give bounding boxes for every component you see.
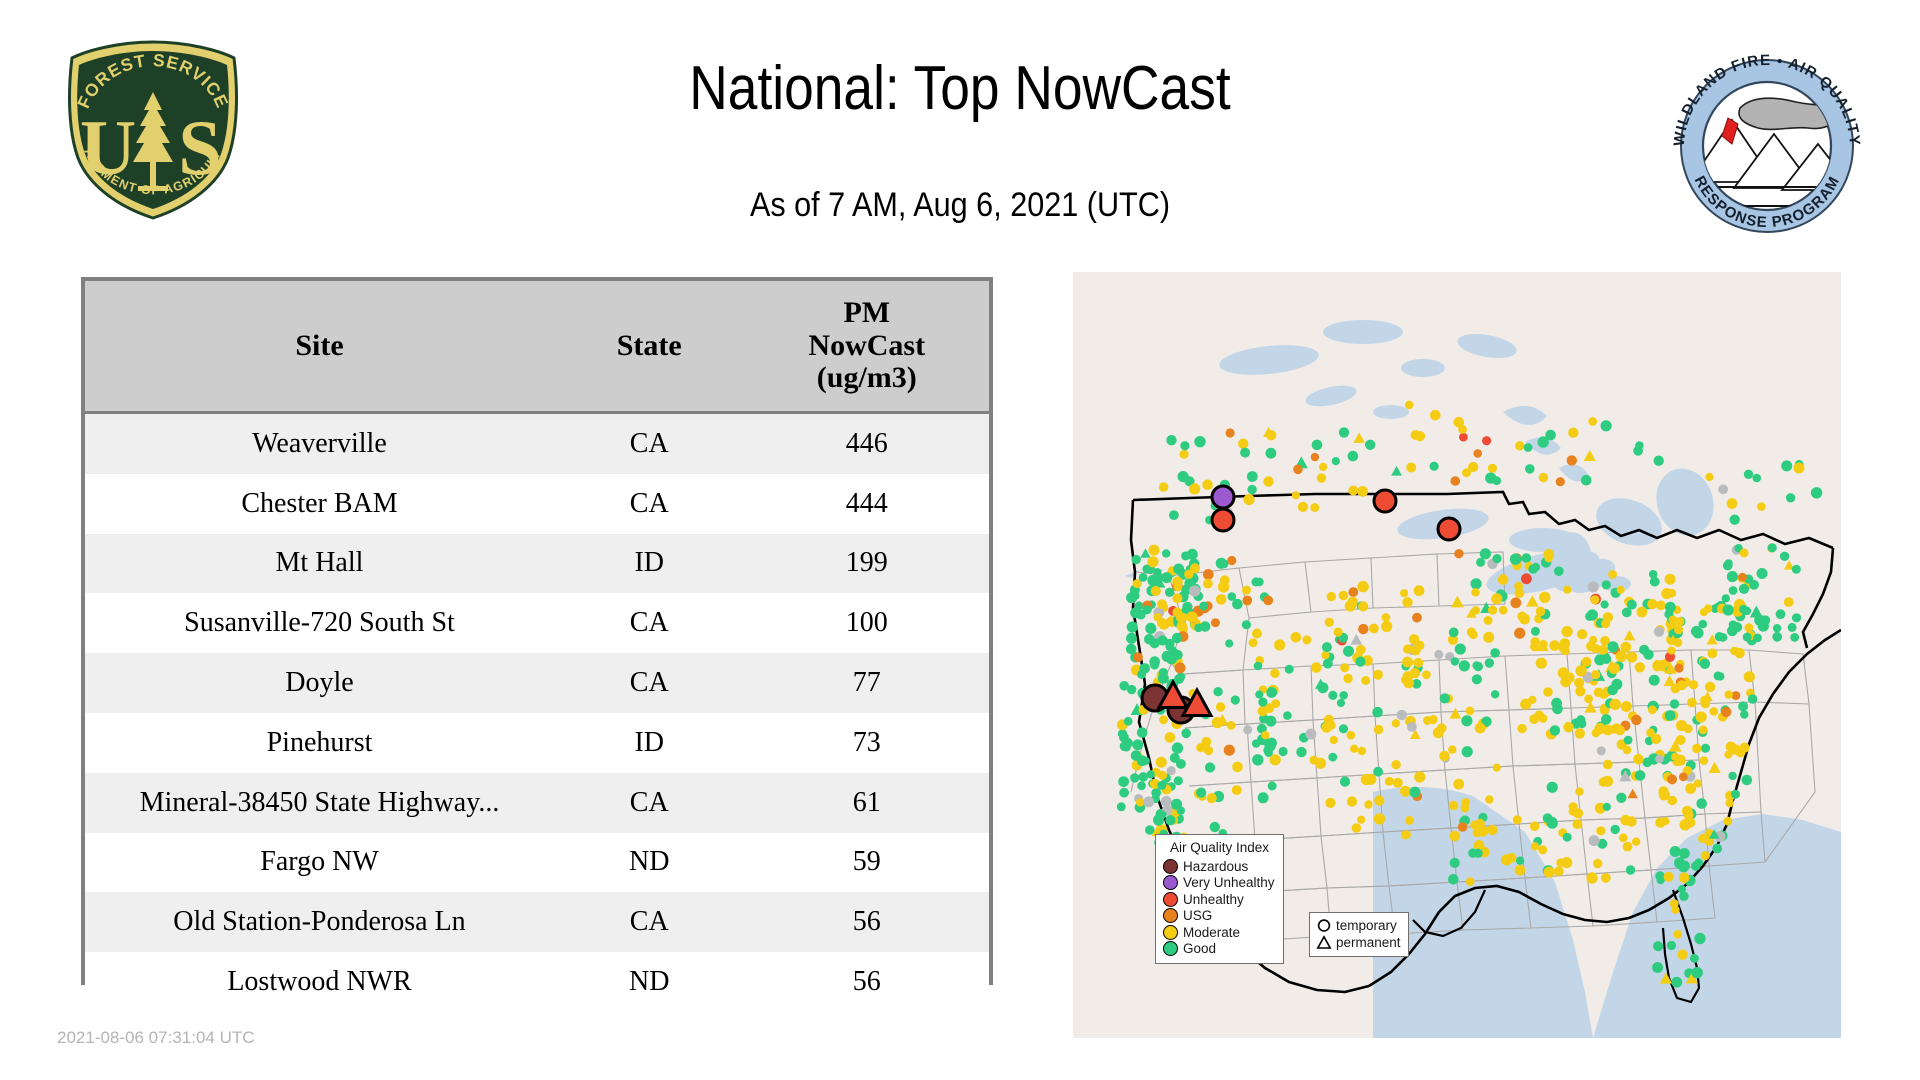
- map-monitor-dot[interactable]: [1326, 721, 1335, 730]
- map-monitor-dot[interactable]: [1694, 858, 1703, 867]
- map-monitor-dot[interactable]: [1607, 685, 1618, 696]
- map-monitor-dot[interactable]: [1153, 568, 1162, 577]
- map-monitor-dot[interactable]: [1516, 857, 1524, 865]
- map-monitor-dot[interactable]: [1652, 661, 1662, 671]
- map-monitor-dot[interactable]: [1252, 739, 1260, 747]
- map-monitor-dot[interactable]: [1513, 815, 1522, 824]
- map-monitor-dot[interactable]: [1748, 694, 1758, 704]
- map-monitor-dot[interactable]: [1661, 817, 1669, 825]
- map-monitor-dot[interactable]: [1345, 600, 1356, 611]
- map-monitor-dot[interactable]: [1676, 720, 1687, 731]
- map-monitor-dot[interactable]: [1482, 436, 1491, 445]
- map-monitor-dot[interactable]: [1675, 617, 1684, 626]
- map-monitor-dot[interactable]: [1440, 693, 1450, 703]
- map-monitor-dot[interactable]: [1596, 826, 1605, 835]
- map-monitor-dot[interactable]: [1392, 719, 1400, 727]
- map-monitor-dot[interactable]: [1731, 790, 1740, 799]
- map-monitor-dot[interactable]: [1213, 687, 1222, 696]
- map-monitor-dot[interactable]: [1698, 834, 1707, 843]
- map-monitor-dot[interactable]: [1268, 782, 1277, 791]
- map-monitor-dot[interactable]: [1317, 682, 1328, 693]
- map-monitor-dot[interactable]: [1639, 645, 1649, 655]
- map-monitor-dot[interactable]: [1343, 674, 1352, 683]
- map-monitor-dot[interactable]: [1350, 745, 1358, 753]
- map-highlighted-site-marker[interactable]: [1212, 509, 1234, 531]
- map-monitor-dot[interactable]: [1166, 435, 1176, 445]
- map-monitor-dot[interactable]: [1255, 690, 1263, 698]
- map-monitor-dot[interactable]: [1212, 717, 1223, 728]
- map-monitor-dot[interactable]: [1554, 866, 1564, 876]
- table-row[interactable]: Mineral-38450 State Highway...CA61: [85, 773, 989, 833]
- map-monitor-dot[interactable]: [1655, 755, 1664, 764]
- map-monitor-dot[interactable]: [1402, 657, 1413, 668]
- map-monitor-dot[interactable]: [1364, 800, 1372, 808]
- map-monitor-dot[interactable]: [1700, 659, 1710, 669]
- map-monitor-dot[interactable]: [1679, 772, 1688, 781]
- map-monitor-dot[interactable]: [1283, 711, 1292, 720]
- map-monitor-dot[interactable]: [1199, 602, 1208, 611]
- map-monitor-dot[interactable]: [1739, 584, 1749, 594]
- map-monitor-dot[interactable]: [1203, 579, 1213, 589]
- map-monitor-dot[interactable]: [1203, 569, 1214, 580]
- map-monitor-dot[interactable]: [1515, 441, 1524, 450]
- map-monitor-dot[interactable]: [1705, 682, 1715, 692]
- map-monitor-dot[interactable]: [1252, 754, 1263, 765]
- map-monitor-dot[interactable]: [1635, 662, 1645, 672]
- map-monitor-dot[interactable]: [1374, 725, 1383, 734]
- map-monitor-dot[interactable]: [1677, 949, 1687, 959]
- map-monitor-dot[interactable]: [1712, 844, 1722, 854]
- map-monitor-dot[interactable]: [1690, 954, 1699, 963]
- map-monitor-dot[interactable]: [1539, 592, 1550, 603]
- map-monitor-dot[interactable]: [1739, 605, 1748, 614]
- map-monitor-dot[interactable]: [1510, 554, 1521, 565]
- map-monitor-dot[interactable]: [1674, 625, 1683, 634]
- map-monitor-dot[interactable]: [1196, 788, 1206, 798]
- map-monitor-dot[interactable]: [1627, 600, 1637, 610]
- map-monitor-dot[interactable]: [1661, 588, 1672, 599]
- map-monitor-dot[interactable]: [1243, 725, 1252, 734]
- map-monitor-dot[interactable]: [1311, 662, 1322, 673]
- map-monitor-dot[interactable]: [1372, 707, 1383, 718]
- map-monitor-dot[interactable]: [1169, 510, 1179, 520]
- map-monitor-dot[interactable]: [1317, 473, 1326, 482]
- map-monitor-dot[interactable]: [1471, 578, 1482, 589]
- map-monitor-dot[interactable]: [1666, 575, 1674, 583]
- map-monitor-dot[interactable]: [1254, 662, 1263, 671]
- map-monitor-dot[interactable]: [1373, 670, 1383, 680]
- map-monitor-dot[interactable]: [1216, 702, 1225, 711]
- map-monitor-dot[interactable]: [1458, 822, 1468, 832]
- map-monitor-dot[interactable]: [1543, 687, 1553, 697]
- map-monitor-dot[interactable]: [1174, 776, 1183, 785]
- map-monitor-dot[interactable]: [1437, 723, 1447, 733]
- map-monitor-dot[interactable]: [1247, 471, 1258, 482]
- map-monitor-dot[interactable]: [1781, 460, 1792, 471]
- map-monitor-dot[interactable]: [1327, 592, 1336, 601]
- map-monitor-dot[interactable]: [1211, 618, 1220, 627]
- map-monitor-dot[interactable]: [1216, 594, 1227, 605]
- map-monitor-dot[interactable]: [1337, 699, 1345, 707]
- map-monitor-dot[interactable]: [1536, 658, 1547, 669]
- map-monitor-dot[interactable]: [1588, 417, 1597, 426]
- map-monitor-dot[interactable]: [1517, 724, 1526, 733]
- map-monitor-dot[interactable]: [1340, 663, 1349, 672]
- map-monitor-dot[interactable]: [1385, 777, 1394, 786]
- map-monitor-dot[interactable]: [1472, 606, 1480, 614]
- map-monitor-dot[interactable]: [1584, 695, 1593, 704]
- map-monitor-dot[interactable]: [1563, 722, 1573, 732]
- map-monitor-dot[interactable]: [1476, 558, 1485, 567]
- map-monitor-dot[interactable]: [1357, 581, 1368, 592]
- map-monitor-dot[interactable]: [1358, 601, 1368, 611]
- map-monitor-dot[interactable]: [1727, 498, 1738, 509]
- map-monitor-dot[interactable]: [1266, 687, 1277, 698]
- map-monitor-dot[interactable]: [1705, 473, 1713, 481]
- map-monitor-dot[interactable]: [1545, 554, 1553, 562]
- map-monitor-dot[interactable]: [1434, 650, 1443, 659]
- map-monitor-dot[interactable]: [1487, 825, 1497, 835]
- map-monitor-dot[interactable]: [1786, 493, 1795, 502]
- map-monitor-dot[interactable]: [1753, 634, 1762, 643]
- map-monitor-dot[interactable]: [1202, 737, 1212, 747]
- map-monitor-dot[interactable]: [1124, 717, 1133, 726]
- map-monitor-dot[interactable]: [1569, 802, 1578, 811]
- map-monitor-dot[interactable]: [1696, 798, 1707, 809]
- map-monitor-dot[interactable]: [1158, 771, 1167, 780]
- map-monitor-dot[interactable]: [1551, 698, 1562, 709]
- map-monitor-dot[interactable]: [1581, 475, 1592, 486]
- map-monitor-dot[interactable]: [1172, 593, 1182, 603]
- map-monitor-dot[interactable]: [1382, 613, 1391, 622]
- map-monitor-dot[interactable]: [1422, 670, 1431, 679]
- map-monitor-dot[interactable]: [1405, 816, 1414, 825]
- map-monitor-dot[interactable]: [1279, 747, 1288, 756]
- map-monitor-dot[interactable]: [1637, 607, 1648, 618]
- map-monitor-dot[interactable]: [1263, 476, 1273, 486]
- map-monitor-dot[interactable]: [1586, 641, 1596, 651]
- map-monitor-dot[interactable]: [1258, 792, 1269, 803]
- map-monitor-dot[interactable]: [1543, 813, 1553, 823]
- map-monitor-dot[interactable]: [1792, 565, 1801, 574]
- map-monitor-dot[interactable]: [1740, 710, 1748, 718]
- map-monitor-dot[interactable]: [1407, 722, 1417, 732]
- map-monitor-dot[interactable]: [1132, 739, 1143, 750]
- column-header-state[interactable]: State: [554, 281, 745, 413]
- map-monitor-dot[interactable]: [1617, 586, 1625, 594]
- map-monitor-dot[interactable]: [1724, 817, 1733, 826]
- map-monitor-dot[interactable]: [1466, 707, 1475, 716]
- map-monitor-dot[interactable]: [1157, 599, 1167, 609]
- map-monitor-dot[interactable]: [1210, 822, 1220, 832]
- map-monitor-dot[interactable]: [1409, 634, 1419, 644]
- map-monitor-dot[interactable]: [1136, 610, 1146, 620]
- map-monitor-dot[interactable]: [1525, 464, 1535, 474]
- map-monitor-dot[interactable]: [1726, 742, 1736, 752]
- map-monitor-dot[interactable]: [1357, 816, 1365, 824]
- map-monitor-dot[interactable]: [1270, 669, 1279, 678]
- map-monitor-dot[interactable]: [1296, 747, 1306, 757]
- map-monitor-dot[interactable]: [1266, 448, 1277, 459]
- map-monitor-dot[interactable]: [1514, 582, 1523, 591]
- map-monitor-dot[interactable]: [1575, 787, 1583, 795]
- map-monitor-dot[interactable]: [1127, 621, 1138, 632]
- map-monitor-dot[interactable]: [1352, 823, 1362, 833]
- map-monitor-dot[interactable]: [1415, 431, 1425, 441]
- map-monitor-dot[interactable]: [1400, 786, 1411, 797]
- column-header-pm-nowcast[interactable]: PM NowCast (ug/m3): [745, 281, 989, 413]
- map-monitor-dot[interactable]: [1626, 816, 1637, 827]
- map-monitor-dot[interactable]: [1361, 676, 1370, 685]
- map-monitor-dot[interactable]: [1180, 441, 1189, 450]
- map-monitor-dot[interactable]: [1473, 449, 1482, 458]
- map-monitor-dot[interactable]: [1118, 776, 1129, 787]
- map-monitor-dot[interactable]: [1724, 559, 1732, 567]
- map-monitor-dot[interactable]: [1462, 468, 1471, 477]
- map-monitor-dot[interactable]: [1381, 621, 1392, 632]
- map-monitor-dot[interactable]: [1544, 867, 1555, 878]
- map-monitor-dot[interactable]: [1610, 725, 1619, 734]
- map-monitor-dot[interactable]: [1471, 588, 1479, 596]
- map-monitor-dot[interactable]: [1348, 451, 1359, 462]
- map-monitor-dot[interactable]: [1459, 433, 1468, 442]
- map-monitor-dot[interactable]: [1466, 877, 1475, 886]
- map-monitor-dot[interactable]: [1539, 714, 1548, 723]
- map-monitor-dot[interactable]: [1598, 645, 1608, 655]
- map-monitor-dot[interactable]: [1633, 446, 1643, 456]
- map-monitor-dot[interactable]: [1414, 585, 1425, 596]
- map-monitor-dot[interactable]: [1667, 774, 1677, 784]
- map-monitor-dot[interactable]: [1653, 941, 1663, 951]
- table-row[interactable]: PinehurstID73: [85, 713, 989, 773]
- map-monitor-dot[interactable]: [1271, 699, 1280, 708]
- map-monitor-dot[interactable]: [1119, 681, 1129, 691]
- map-monitor-dot[interactable]: [1472, 674, 1482, 684]
- map-monitor-dot[interactable]: [1679, 891, 1689, 901]
- map-monitor-dot[interactable]: [1232, 599, 1243, 610]
- map-monitor-dot[interactable]: [1616, 793, 1626, 803]
- map-monitor-dot[interactable]: [1176, 612, 1186, 622]
- map-monitor-dot[interactable]: [1562, 626, 1573, 637]
- map-monitor-dot[interactable]: [1725, 690, 1733, 698]
- map-monitor-dot[interactable]: [1602, 776, 1613, 787]
- map-monitor-dot[interactable]: [1718, 484, 1728, 494]
- map-monitor-dot[interactable]: [1413, 658, 1423, 668]
- table-row[interactable]: Chester BAMCA444: [85, 474, 989, 534]
- map-monitor-dot[interactable]: [1577, 629, 1587, 639]
- map-monitor-dot[interactable]: [1132, 555, 1141, 564]
- map-monitor-dot[interactable]: [1291, 632, 1302, 643]
- map-monitor-dot[interactable]: [1175, 662, 1186, 673]
- map-monitor-dot[interactable]: [1588, 581, 1599, 592]
- map-monitor-dot[interactable]: [1668, 646, 1676, 654]
- map-monitor-dot[interactable]: [1454, 549, 1463, 558]
- map-monitor-dot[interactable]: [1673, 930, 1682, 939]
- map-monitor-dot[interactable]: [1563, 586, 1571, 594]
- map-monitor-dot[interactable]: [1768, 543, 1777, 552]
- map-monitor-dot[interactable]: [1601, 873, 1611, 883]
- map-monitor-dot[interactable]: [1410, 787, 1421, 798]
- map-monitor-dot[interactable]: [1403, 644, 1412, 653]
- map-monitor-dot[interactable]: [1449, 801, 1459, 811]
- table-row[interactable]: Mt HallID199: [85, 534, 989, 594]
- map-monitor-dot[interactable]: [1514, 628, 1525, 639]
- map-monitor-dot[interactable]: [1207, 793, 1217, 803]
- map-monitor-dot[interactable]: [1671, 753, 1679, 761]
- map-monitor-dot[interactable]: [1648, 705, 1657, 714]
- map-monitor-dot[interactable]: [1147, 556, 1158, 567]
- map-monitor-dot[interactable]: [1220, 575, 1230, 585]
- map-monitor-dot[interactable]: [1715, 632, 1724, 641]
- table-row[interactable]: Fargo NWND59: [85, 833, 989, 893]
- map-monitor-dot[interactable]: [1699, 726, 1708, 735]
- map-monitor-dot[interactable]: [1130, 773, 1139, 782]
- map-monitor-dot[interactable]: [1490, 648, 1500, 658]
- map-monitor-dot[interactable]: [1365, 440, 1375, 450]
- map-monitor-dot[interactable]: [1531, 627, 1540, 636]
- column-header-site[interactable]: Site: [85, 281, 554, 413]
- map-monitor-dot[interactable]: [1159, 715, 1168, 724]
- map-monitor-dot[interactable]: [1334, 628, 1343, 637]
- map-monitor-dot[interactable]: [1621, 701, 1632, 712]
- map-monitor-dot[interactable]: [1757, 502, 1766, 511]
- map-monitor-dot[interactable]: [1670, 699, 1679, 708]
- map-monitor-dot[interactable]: [1232, 762, 1243, 773]
- map-highlighted-site-marker[interactable]: [1438, 518, 1460, 540]
- map-monitor-dot[interactable]: [1692, 967, 1703, 978]
- map-monitor-dot[interactable]: [1632, 838, 1640, 846]
- map-monitor-dot[interactable]: [1722, 594, 1730, 602]
- map-monitor-dot[interactable]: [1575, 728, 1585, 738]
- map-monitor-dot[interactable]: [1594, 723, 1605, 734]
- map-monitor-dot[interactable]: [1714, 671, 1723, 680]
- map-monitor-dot[interactable]: [1485, 795, 1494, 804]
- map-monitor-dot[interactable]: [1788, 623, 1797, 632]
- map-monitor-dot[interactable]: [1453, 779, 1464, 790]
- map-monitor-dot[interactable]: [1507, 853, 1517, 863]
- map-monitor-dot[interactable]: [1550, 725, 1560, 735]
- map-monitor-dot[interactable]: [1480, 548, 1491, 559]
- map-monitor-dot[interactable]: [1510, 597, 1521, 608]
- map-monitor-dot[interactable]: [1472, 661, 1480, 669]
- map-monitor-dot[interactable]: [1298, 502, 1308, 512]
- map-monitor-dot[interactable]: [1683, 810, 1693, 820]
- map-monitor-dot[interactable]: [1346, 731, 1355, 740]
- map-monitor-dot[interactable]: [1727, 571, 1738, 582]
- map-monitor-dot[interactable]: [1602, 580, 1611, 589]
- map-monitor-dot[interactable]: [1696, 711, 1707, 722]
- table-row[interactable]: Lostwood NWRND56: [85, 952, 989, 1012]
- map-monitor-dot[interactable]: [1725, 799, 1734, 808]
- map-monitor-dot[interactable]: [1157, 781, 1166, 790]
- map-monitor-dot[interactable]: [1190, 563, 1200, 573]
- map-monitor-dot[interactable]: [1340, 777, 1350, 787]
- map-monitor-dot[interactable]: [1159, 482, 1169, 492]
- map-monitor-dot[interactable]: [1224, 745, 1235, 756]
- table-row[interactable]: Susanville-720 South StCA100: [85, 593, 989, 653]
- map-monitor-dot[interactable]: [1325, 618, 1334, 627]
- map-monitor-dot[interactable]: [1659, 789, 1670, 800]
- map-monitor-dot[interactable]: [1252, 629, 1262, 639]
- map-monitor-dot[interactable]: [1651, 734, 1661, 744]
- map-monitor-dot[interactable]: [1601, 654, 1611, 664]
- map-monitor-dot[interactable]: [1258, 706, 1268, 716]
- map-monitor-dot[interactable]: [1493, 764, 1501, 772]
- map-monitor-dot[interactable]: [1594, 688, 1604, 698]
- map-monitor-dot[interactable]: [1607, 641, 1618, 652]
- map-monitor-dot[interactable]: [1475, 723, 1486, 734]
- map-monitor-dot[interactable]: [1689, 680, 1698, 689]
- map-monitor-dot[interactable]: [1685, 783, 1696, 794]
- map-monitor-dot[interactable]: [1126, 633, 1137, 644]
- air-quality-map[interactable]: Air Quality Index HazardousVery Unhealth…: [1073, 272, 1841, 1038]
- table-row[interactable]: WeavervilleCA446: [85, 413, 989, 474]
- map-monitor-dot[interactable]: [1373, 767, 1383, 777]
- map-monitor-dot[interactable]: [1356, 645, 1366, 655]
- map-monitor-dot[interactable]: [1635, 770, 1646, 781]
- map-monitor-dot[interactable]: [1117, 802, 1126, 811]
- map-monitor-dot[interactable]: [1174, 583, 1182, 591]
- map-monitor-dot[interactable]: [1189, 585, 1200, 596]
- map-monitor-dot[interactable]: [1601, 619, 1610, 628]
- map-monitor-dot[interactable]: [1744, 470, 1753, 479]
- map-monitor-dot[interactable]: [1321, 651, 1329, 659]
- map-monitor-dot[interactable]: [1238, 439, 1248, 449]
- map-monitor-dot[interactable]: [1744, 671, 1755, 682]
- map-monitor-dot[interactable]: [1186, 611, 1197, 622]
- map-monitor-dot[interactable]: [1263, 596, 1273, 606]
- map-monitor-dot[interactable]: [1243, 596, 1253, 606]
- map-monitor-dot[interactable]: [1147, 770, 1155, 778]
- map-monitor-dot[interactable]: [1170, 753, 1180, 763]
- map-monitor-dot[interactable]: [1561, 647, 1570, 656]
- map-monitor-dot[interactable]: [1693, 628, 1704, 639]
- map-monitor-dot[interactable]: [1590, 595, 1599, 604]
- map-monitor-dot[interactable]: [1450, 858, 1460, 868]
- map-monitor-dot[interactable]: [1631, 715, 1641, 725]
- map-monitor-dot[interactable]: [1143, 796, 1154, 807]
- map-monitor-dot[interactable]: [1405, 401, 1414, 410]
- map-monitor-dot[interactable]: [1522, 553, 1532, 563]
- map-monitor-dot[interactable]: [1178, 471, 1189, 482]
- map-monitor-dot[interactable]: [1730, 647, 1739, 656]
- map-monitor-dot[interactable]: [1591, 670, 1600, 679]
- map-monitor-dot[interactable]: [1343, 646, 1354, 657]
- map-monitor-dot[interactable]: [1670, 846, 1681, 857]
- map-monitor-dot[interactable]: [1603, 803, 1611, 811]
- map-monitor-dot[interactable]: [1671, 977, 1682, 988]
- map-monitor-dot[interactable]: [1455, 644, 1466, 655]
- map-monitor-dot[interactable]: [1601, 420, 1612, 431]
- map-monitor-dot[interactable]: [1611, 825, 1620, 834]
- map-monitor-dot[interactable]: [1227, 556, 1236, 565]
- map-monitor-dot[interactable]: [1701, 851, 1710, 860]
- map-monitor-dot[interactable]: [1448, 745, 1456, 753]
- map-monitor-dot[interactable]: [1136, 798, 1144, 806]
- map-monitor-dot[interactable]: [1568, 428, 1578, 438]
- map-monitor-dot[interactable]: [1699, 620, 1708, 629]
- map-monitor-dot[interactable]: [1485, 473, 1496, 484]
- map-monitor-dot[interactable]: [1730, 515, 1740, 525]
- map-monitor-dot[interactable]: [1601, 600, 1609, 608]
- map-monitor-dot[interactable]: [1322, 642, 1332, 652]
- map-monitor-dot[interactable]: [1274, 639, 1285, 650]
- map-monitor-dot[interactable]: [1623, 746, 1632, 755]
- map-monitor-dot[interactable]: [1729, 586, 1738, 595]
- map-highlighted-site-marker[interactable]: [1212, 486, 1234, 508]
- map-monitor-dot[interactable]: [1302, 635, 1311, 644]
- map-monitor-dot[interactable]: [1402, 830, 1411, 839]
